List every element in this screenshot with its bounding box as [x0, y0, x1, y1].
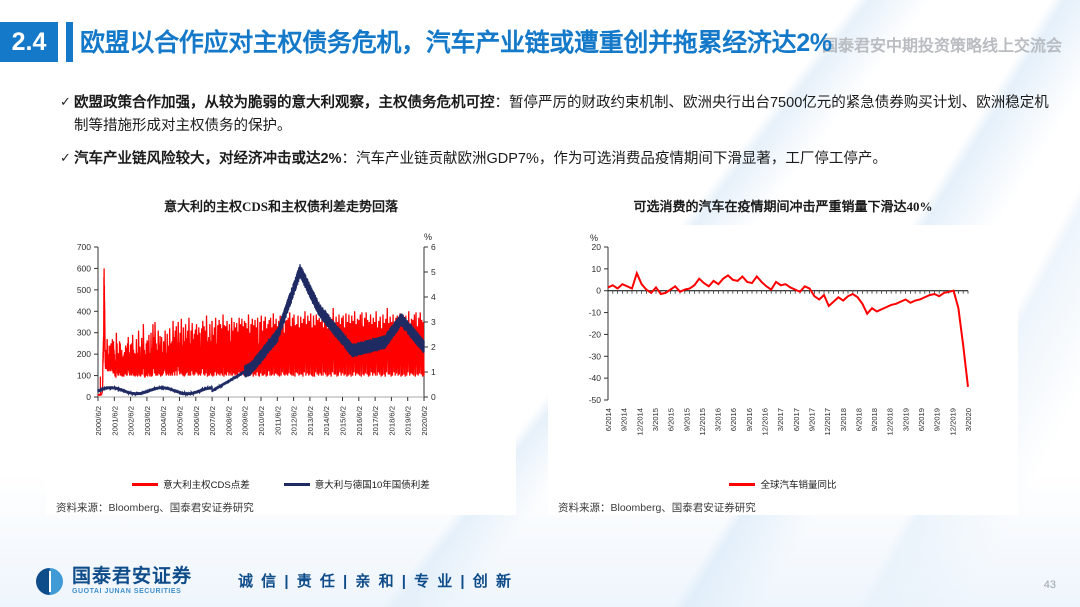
- svg-text:2003/6/2: 2003/6/2: [143, 406, 152, 436]
- svg-text:12/2014: 12/2014: [635, 408, 644, 435]
- logo-name-en: GUOTAI JUNAN SECURITIES: [72, 588, 192, 595]
- svg-text:600: 600: [77, 263, 91, 273]
- svg-text:5: 5: [431, 267, 436, 277]
- bullet-item: ✓ 汽车产业链风险较大，对经济冲击或达2%：汽车产业链贡献欧洲GDP7%，作为可…: [60, 148, 1060, 171]
- legend-swatch: [729, 483, 755, 486]
- svg-text:0: 0: [86, 392, 91, 402]
- svg-text:9/2014: 9/2014: [620, 408, 629, 431]
- svg-text:3/2017: 3/2017: [776, 408, 785, 431]
- bullet-rest: ：汽车产业链贡献欧洲GDP7%，作为可选消费品疫情期间下滑显著，工厂停工停产。: [341, 151, 886, 167]
- svg-text:0: 0: [596, 286, 601, 296]
- check-icon: ✓: [60, 148, 74, 171]
- title-accent-bar: [66, 22, 73, 62]
- bullet-text: 汽车产业链风险较大，对经济冲击或达2%：汽车产业链贡献欧洲GDP7%，作为可选消…: [74, 148, 887, 171]
- legend-label: 意大利与德国10年国债利差: [315, 477, 430, 491]
- bullet-item: ✓ 欧盟政策合作加强，从较为脆弱的意大利观察，主权债务危机可控：暂停严厉的财政约…: [60, 92, 1060, 139]
- svg-text:2014/6/2: 2014/6/2: [322, 406, 331, 436]
- slide-header: 2.4 国泰君安中期投资策略线上交流会 欧盟以合作应对主权债务危机，汽车产业链或…: [0, 22, 1080, 62]
- legend-label: 意大利主权CDS点差: [163, 477, 250, 491]
- svg-text:12/2019: 12/2019: [948, 408, 957, 435]
- legend-swatch: [132, 483, 158, 486]
- svg-text:-20: -20: [589, 329, 602, 339]
- svg-text:2: 2: [431, 342, 436, 352]
- svg-text:12/2017: 12/2017: [823, 408, 832, 435]
- svg-text:9/2018: 9/2018: [870, 408, 879, 431]
- source-note: 资料来源：Bloomberg、国泰君安证券研究: [56, 500, 254, 515]
- svg-text:3/2019: 3/2019: [901, 408, 910, 431]
- svg-text:2016/6/2: 2016/6/2: [355, 406, 364, 436]
- svg-text:2005/6/2: 2005/6/2: [176, 406, 185, 436]
- watermark-text: 国泰君安中期投资策略线上交流会: [822, 32, 1062, 56]
- svg-text:200: 200: [77, 349, 91, 359]
- svg-text:2019/6/2: 2019/6/2: [404, 406, 413, 436]
- company-slogan: 诚 信 | 责 任 | 亲 和 | 专 业 | 创 新: [238, 570, 513, 591]
- svg-text:10: 10: [592, 264, 602, 274]
- svg-text:3: 3: [431, 317, 436, 327]
- svg-text:700: 700: [77, 242, 91, 252]
- svg-text:2010/6/2: 2010/6/2: [257, 406, 266, 436]
- svg-text:6/2019: 6/2019: [917, 408, 926, 431]
- chart-plot-area: 20100-10-20-30-40-50%6/20149/201412/2014…: [548, 225, 1018, 515]
- svg-text:-10: -10: [589, 308, 602, 318]
- bullet-text: 欧盟政策合作加强，从较为脆弱的意大利观察，主权债务危机可控：暂停严厉的财政约束机…: [74, 92, 1060, 139]
- auto-sales-svg: 20100-10-20-30-40-50%6/20149/201412/2014…: [548, 225, 1018, 475]
- bullet-list: ✓ 欧盟政策合作加强，从较为脆弱的意大利观察，主权债务危机可控：暂停严厉的财政约…: [60, 92, 1060, 180]
- legend-label: 全球汽车销量同比: [760, 477, 836, 491]
- logo-name-cn: 国泰君安证券: [72, 567, 192, 586]
- legend-item-auto: 全球汽车销量同比: [729, 477, 836, 491]
- svg-text:6: 6: [431, 242, 436, 252]
- svg-text:300: 300: [77, 328, 91, 338]
- svg-text:2011/6/2: 2011/6/2: [273, 406, 282, 435]
- legend-swatch: [284, 483, 310, 486]
- svg-text:2018/6/2: 2018/6/2: [387, 406, 396, 436]
- svg-text:400: 400: [77, 306, 91, 316]
- svg-text:9/2019: 9/2019: [933, 408, 942, 431]
- svg-text:-30: -30: [589, 351, 602, 361]
- chart-legend: 全球汽车销量同比: [548, 477, 1018, 491]
- svg-text:12/2016: 12/2016: [761, 408, 770, 435]
- svg-text:500: 500: [77, 285, 91, 295]
- svg-text:3/2020: 3/2020: [964, 408, 973, 431]
- svg-text:2006/6/2: 2006/6/2: [192, 406, 201, 436]
- svg-text:2015/6/2: 2015/6/2: [339, 406, 348, 436]
- source-note: 资料来源：Bloomberg、国泰君安证券研究: [558, 500, 756, 515]
- slide-footer: 国泰君安证券 GUOTAI JUNAN SECURITIES 诚 信 | 责 任…: [0, 549, 1080, 607]
- chart-plot-area: 01002003004005006007000123456%2000/6/220…: [46, 225, 516, 515]
- check-icon: ✓: [60, 92, 74, 139]
- svg-text:%: %: [590, 233, 598, 243]
- svg-text:100: 100: [77, 371, 91, 381]
- italy-cds-svg: 01002003004005006007000123456%2000/6/220…: [46, 225, 516, 475]
- svg-text:9/2016: 9/2016: [745, 408, 754, 431]
- svg-text:-40: -40: [589, 373, 602, 383]
- svg-text:12/2015: 12/2015: [698, 408, 707, 435]
- company-logo: 国泰君安证券 GUOTAI JUNAN SECURITIES: [36, 567, 192, 595]
- svg-text:2008/6/2: 2008/6/2: [224, 406, 233, 436]
- chart-title: 意大利的主权CDS和主权债利差走势回落: [46, 196, 516, 215]
- bullet-lead: 欧盟政策合作加强，从较为脆弱的意大利观察，主权债务危机可控: [74, 95, 495, 111]
- svg-text:6/2017: 6/2017: [792, 408, 801, 431]
- bullet-lead: 汽车产业链风险较大，对经济冲击或达2%: [74, 151, 341, 167]
- chart-legend: 意大利主权CDS点差 意大利与德国10年国债利差: [46, 477, 516, 491]
- svg-text:2017/6/2: 2017/6/2: [371, 406, 380, 436]
- svg-text:2007/6/2: 2007/6/2: [208, 406, 217, 436]
- svg-text:2001/6/2: 2001/6/2: [110, 406, 119, 436]
- svg-text:2020/6/2: 2020/6/2: [420, 406, 429, 436]
- svg-text:2000/6/2: 2000/6/2: [94, 406, 103, 436]
- page-number: 43: [1044, 579, 1056, 591]
- svg-text:1: 1: [431, 367, 436, 377]
- svg-text:2002/6/2: 2002/6/2: [127, 406, 136, 436]
- svg-text:2012/6/2: 2012/6/2: [290, 406, 299, 436]
- chart-title: 可选消费的汽车在疫情期间冲击严重销量下滑达40%: [548, 196, 1018, 215]
- logo-text-group: 国泰君安证券 GUOTAI JUNAN SECURITIES: [72, 567, 192, 595]
- svg-text:9/2015: 9/2015: [682, 408, 691, 431]
- svg-text:6/2014: 6/2014: [604, 408, 613, 431]
- svg-text:2013/6/2: 2013/6/2: [306, 406, 315, 436]
- svg-text:6/2015: 6/2015: [667, 408, 676, 431]
- svg-text:20: 20: [592, 242, 602, 252]
- svg-text:9/2017: 9/2017: [807, 408, 816, 431]
- svg-text:3/2015: 3/2015: [651, 408, 660, 431]
- legend-item-cds: 意大利主权CDS点差: [132, 477, 250, 491]
- svg-text:6/2018: 6/2018: [854, 408, 863, 431]
- section-number-badge: 2.4: [0, 22, 58, 62]
- legend-item-spread: 意大利与德国10年国债利差: [284, 477, 430, 491]
- svg-text:4: 4: [431, 292, 436, 302]
- chart-auto-sales: 可选消费的汽车在疫情期间冲击严重销量下滑达40% 20100-10-20-30-…: [548, 196, 1018, 515]
- svg-text:12/2018: 12/2018: [886, 408, 895, 435]
- svg-text:0: 0: [431, 392, 436, 402]
- page-title: 欧盟以合作应对主权债务危机，汽车产业链或遭重创并拖累经济达2%: [80, 23, 832, 59]
- svg-text:%: %: [424, 232, 432, 242]
- svg-text:3/2016: 3/2016: [714, 408, 723, 431]
- svg-text:3/2018: 3/2018: [839, 408, 848, 431]
- logo-circle-icon: [36, 568, 63, 595]
- svg-text:6/2016: 6/2016: [729, 408, 738, 431]
- slide-canvas: 2.4 国泰君安中期投资策略线上交流会 欧盟以合作应对主权债务危机，汽车产业链或…: [0, 0, 1080, 607]
- svg-text:2009/6/2: 2009/6/2: [241, 406, 250, 436]
- svg-text:-50: -50: [589, 395, 602, 405]
- chart-italy-cds: 意大利的主权CDS和主权债利差走势回落 01002003004005006007…: [46, 196, 516, 515]
- svg-text:2004/6/2: 2004/6/2: [159, 406, 168, 436]
